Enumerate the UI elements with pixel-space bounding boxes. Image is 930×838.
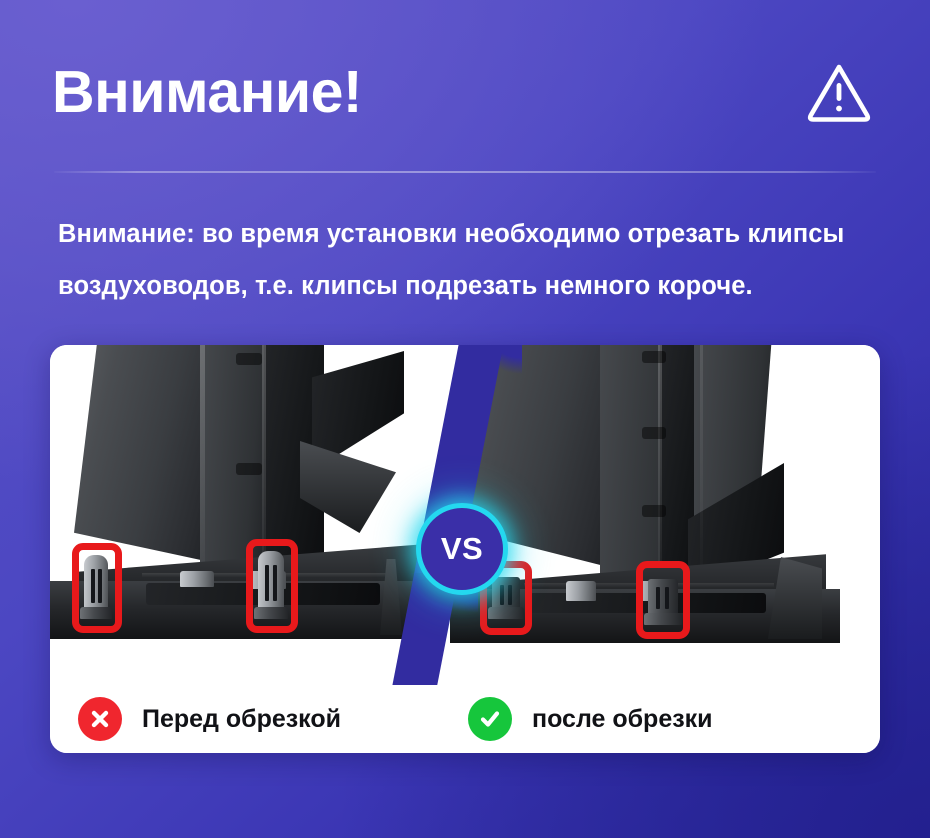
label-before-text: Перед обрезкой [142, 705, 341, 734]
page-title: Внимание! [52, 63, 362, 122]
vs-badge: VS [416, 503, 508, 595]
clip-highlight-box [636, 561, 690, 639]
check-circle-icon [468, 697, 512, 741]
header-divider [54, 171, 876, 173]
clip-highlight-box [72, 543, 122, 633]
warning-infographic-page: Внимание! Внимание: во время установки н… [0, 0, 930, 838]
label-row: Перед обрезкой после обрезки [50, 685, 880, 753]
header: Внимание! [52, 48, 878, 136]
label-after: после обрезки [468, 685, 713, 753]
cross-glyph [89, 708, 111, 730]
clip-highlight-box [246, 539, 298, 633]
cross-circle-icon [78, 697, 122, 741]
check-glyph [478, 707, 502, 731]
warning-triangle-icon [806, 61, 872, 123]
vs-label: VS [441, 531, 483, 567]
warning-body-text: Внимание: во время установки необходимо … [58, 208, 874, 312]
label-before: Перед обрезкой [78, 685, 341, 753]
label-after-text: после обрезки [532, 705, 713, 734]
